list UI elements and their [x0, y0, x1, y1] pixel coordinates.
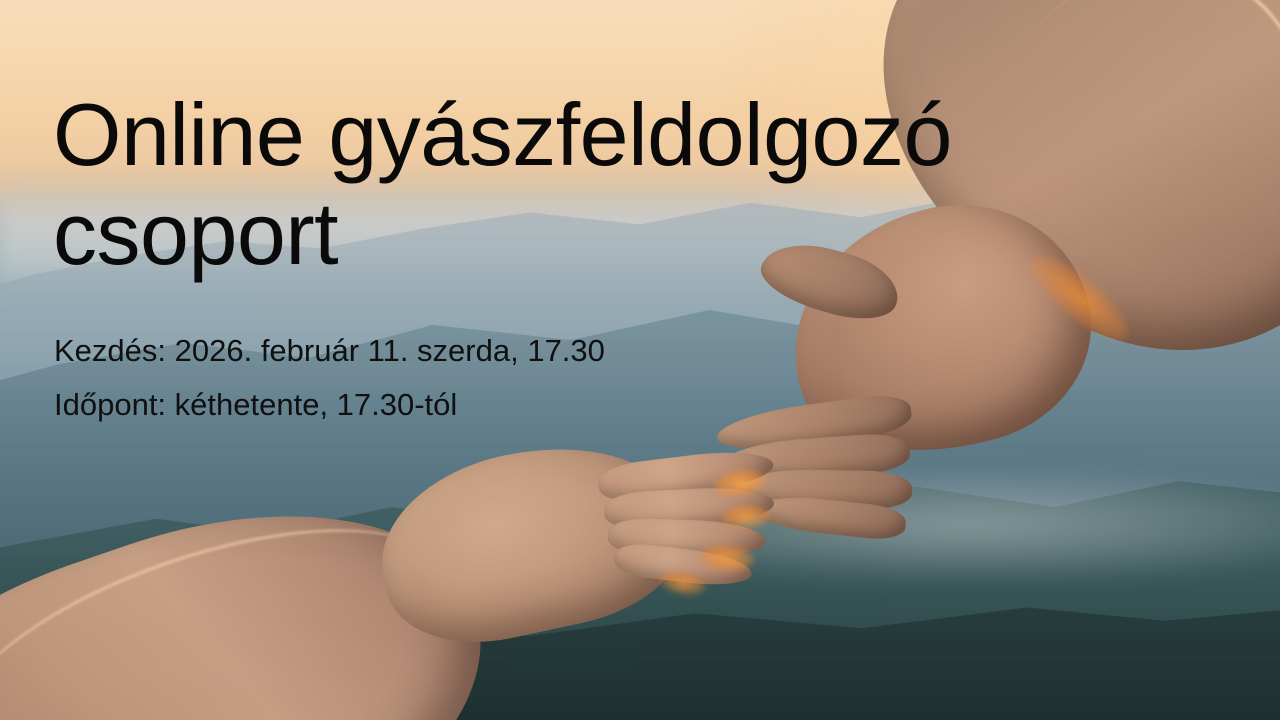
fingertip-glow — [722, 504, 771, 530]
presentation-slide: Online gyászfeldolgozó csoport Kezdés: 2… — [0, 0, 1280, 720]
two-hands-reaching — [0, 0, 1280, 720]
background-photo — [0, 0, 1280, 720]
